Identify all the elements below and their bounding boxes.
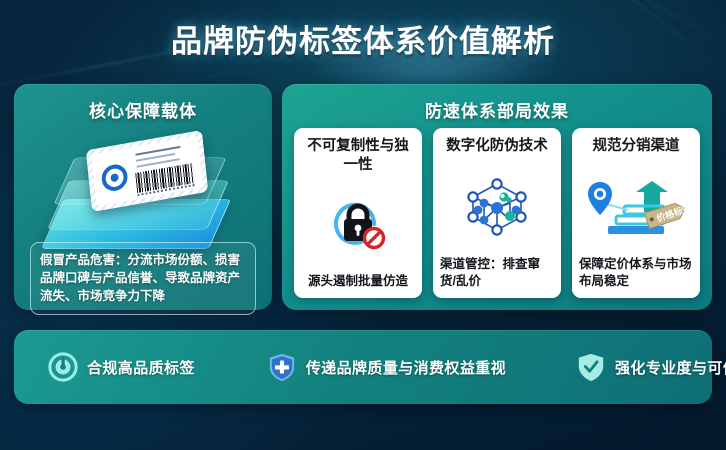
effect-card-title: 数字化防伪技术 — [440, 137, 554, 156]
title-bar: 品牌防伪标签体系价值解析 — [0, 16, 726, 61]
location-pin-stairs-pricetag-icon: 价格标签 — [579, 156, 693, 256]
effect-card-caption: 保障定价体系与市场布局稳定 — [579, 256, 693, 290]
layered-security-label-illustration — [28, 126, 258, 242]
bottom-item-label: 强化专业度与可信度 — [615, 357, 726, 378]
page-title: 品牌防伪标签体系价值解析 — [171, 16, 555, 61]
infographic-root: 品牌防伪标签体系价值解析 核心保障载体 假冒产品危害：分流市场份额、损害品牌口碑… — [0, 0, 726, 450]
right-panel: 防速体系部局效果 不可复制性与独一性 — [282, 84, 712, 310]
effect-card-uniqueness[interactable]: 不可复制性与独一性 源头遏制批量仿造 — [294, 128, 422, 298]
power-certification-icon — [48, 352, 78, 382]
bottom-benefits-row: 合规高品质标签 传递品牌质量与消费权益重视 — [14, 330, 712, 404]
right-panel-heading: 防速体系部局效果 — [282, 97, 712, 122]
effect-cards-row: 不可复制性与独一性 源头遏制批量仿造 — [294, 128, 700, 298]
effect-card-distribution[interactable]: 规范分销渠道 价格标签 — [572, 128, 700, 298]
lock-prohibited-icon — [301, 175, 415, 273]
bottom-benefits-bar: 合规高品质标签 传递品牌质量与消费权益重视 — [14, 330, 712, 404]
shield-check-icon — [576, 352, 606, 382]
effect-card-title: 规范分销渠道 — [579, 137, 693, 156]
effect-card-caption: 渠道管控：排查窜货/乱价 — [440, 256, 554, 290]
counterfeit-harm-box: 假冒产品危害：分流市场份额、损害品牌口碑与产品信誉、导致品牌资产流失、市场竞争力… — [30, 242, 256, 315]
bottom-item-compliance[interactable]: 合规高品质标签 — [48, 352, 195, 382]
bottom-item-label: 合规高品质标签 — [87, 357, 195, 378]
effect-card-title: 不可复制性与独一性 — [301, 137, 415, 175]
network-nodes-icon — [440, 156, 554, 256]
effect-card-digital-tech[interactable]: 数字化防伪技术 — [433, 128, 561, 298]
shield-plus-icon — [267, 352, 297, 382]
left-panel-heading: 核心保障载体 — [14, 97, 272, 122]
counterfeit-harm-text: 假冒产品危害：分流市场份额、损害品牌口碑与产品信誉、导致品牌资产流失、市场竞争力… — [40, 251, 246, 305]
bottom-item-credibility[interactable]: 强化专业度与可信度 — [576, 352, 726, 382]
hologram-seal-icon — [100, 163, 128, 193]
left-panel: 核心保障载体 假冒产品危害：分流市场份额、损害品牌口碑与产品信誉、导致品牌资产流… — [14, 84, 272, 310]
effect-card-caption: 源头遏制批量仿造 — [301, 273, 415, 290]
bottom-item-label: 传递品牌质量与消费权益重视 — [306, 357, 506, 378]
bottom-item-quality[interactable]: 传递品牌质量与消费权益重视 — [267, 352, 506, 382]
